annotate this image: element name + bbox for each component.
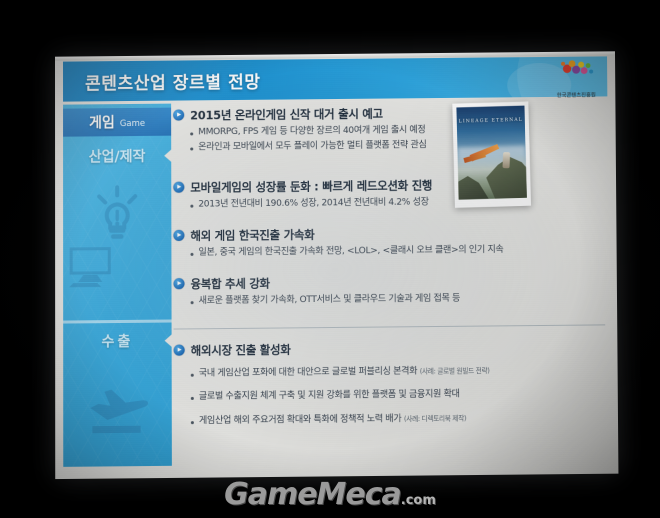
airplane-departure-icon: [63, 373, 172, 445]
lightbulb-idea-icon: [63, 182, 171, 247]
monitor-icon: [63, 240, 171, 293]
section-heading: 융복합 추세 강화: [191, 275, 270, 292]
arrow-bullet-icon: [173, 278, 184, 289]
bullet-text: 2013년 전년대비 190.6% 성장, 2014년 전년대비 4.2% 성장: [198, 197, 428, 211]
bullet-dot-icon: [191, 374, 194, 377]
arrow-bullet-icon: [174, 345, 185, 356]
sidebar-item-export-label: 수출: [101, 331, 133, 351]
arrow-bullet-icon: [173, 230, 184, 241]
sidebar-item-game[interactable]: 게임 Game: [63, 108, 171, 137]
section-block-1: 2015년 온라인게임 신작 대거 출시 예고 MMORPG, FPS 게임 등…: [173, 103, 604, 154]
bullet-row: 새로운 플랫폼 찾기 가속화, OTT서비스 및 클라우드 기술과 게임 접목 …: [191, 292, 605, 307]
bullet-dot-icon: [190, 253, 193, 256]
bullet-note: (사례: 디렉토리북 제작): [404, 414, 466, 423]
sidebar-item-industry-production[interactable]: 산업/제작: [63, 142, 171, 171]
game-poster-thumbnail: LINEAGE ETERNAL: [452, 101, 531, 207]
section-heading-row: 해외 게임 한국진출 가속화: [173, 224, 604, 244]
kocca-logo-text: 한국콘텐츠진흥원: [543, 91, 609, 99]
section-block-2: 모바일게임의 성장률 둔화 : 빠르게 레드오션화 진행 2013년 전년대비 …: [173, 176, 604, 212]
page-title: 콘텐츠산업 장르별 전망: [85, 68, 261, 95]
section-heading: 모바일게임의 성장률 둔화 : 빠르게 레드오션화 진행: [190, 177, 432, 195]
watermark: GameMeca.com: [0, 477, 660, 512]
section-block-export: 해외시장 진출 활성화 국내 게임산업 포화에 대한 대안으로 글로벌 퍼블리싱…: [174, 338, 606, 427]
bullet-row: 일본, 중국 게임의 한국진출 가속화 전망, <LOL>, <클래시 오브 클…: [190, 244, 604, 259]
bullet-text: 국내 게임산업 포화에 대한 대안으로 글로벌 퍼블리싱 본격화: [199, 366, 420, 378]
watermark-domain: .com: [401, 493, 436, 508]
sidebar-item-game-label: 게임: [89, 112, 115, 132]
section-heading-row: 2015년 온라인게임 신작 대거 출시 예고: [173, 103, 603, 123]
sidebar-item-export[interactable]: 수출: [63, 327, 171, 356]
projected-slide-photo: 콘텐츠산업 장르별 전망 한국콘텐츠진흥원 게임 Game: [0, 0, 660, 518]
section-heading-row: 모바일게임의 성장률 둔화 : 빠르게 레드오션화 진행: [173, 176, 604, 196]
section-heading: 해외 게임 한국진출 가속화: [190, 227, 314, 244]
bullet-dot-icon: [191, 301, 194, 304]
bullet-text: 새로운 플랫폼 찾기 가속화, OTT서비스 및 클라우드 기술과 게임 접목 …: [199, 294, 461, 308]
bullet-text: 글로벌 수출지원 체계 구축 및 지원 강화를 위한 플랫폼 및 금융지원 확대: [199, 390, 460, 404]
section-block-4: 융복합 추세 강화 새로운 플랫폼 찾기 가속화, OTT서비스 및 클라우드 …: [173, 272, 605, 308]
presentation-slide: 콘텐츠산업 장르별 전망 한국콘텐츠진흥원 게임 Game: [55, 51, 618, 479]
monitor-icon-svg: [69, 245, 113, 290]
bullet-dot-icon: [191, 397, 194, 400]
arrow-bullet-icon: [173, 182, 184, 193]
arrow-bullet-icon: [173, 109, 184, 120]
kocca-logo: 한국콘텐츠진흥원: [543, 53, 609, 100]
section-heading-row: 해외시장 진출 활성화: [174, 338, 606, 358]
bullet-text: 일본, 중국 게임의 한국진출 가속화 전망, <LOL>, <클래시 오브 클…: [198, 245, 503, 259]
bullet-text-wrap: 게임산업 해외 주요거점 확대와 특화에 정책적 노력 배가 (사례: 디렉토리…: [199, 413, 466, 427]
slide-content: 2015년 온라인게임 신작 대거 출시 예고 MMORPG, FPS 게임 등…: [173, 99, 610, 467]
bullet-dot-icon: [191, 421, 194, 424]
left-rail: 게임 Game 산업/제작: [63, 104, 172, 467]
sidebar-item-game-sublabel: Game: [120, 119, 145, 129]
bullet-row: 2013년 전년대비 190.6% 성장, 2014년 전년대비 4.2% 성장: [190, 196, 604, 211]
bullet-text: 게임산업 해외 주요거점 확대와 특화에 정책적 노력 배가: [199, 414, 404, 426]
watermark-text: GameMeca: [224, 477, 401, 512]
airplane-departure-icon-svg: [80, 377, 154, 440]
rail-pointer-icon-export: [165, 334, 173, 348]
section-block-3: 해외 게임 한국진출 가속화 일본, 중국 게임의 한국진출 가속화 전망, <…: [173, 224, 604, 260]
sidebar-item-industry-label: 산업/제작: [89, 146, 146, 167]
bullet-row: 온라인과 모바일에서 모두 플레이 가능한 멀티 플랫폼 전략 관심: [190, 139, 604, 154]
bullet-dot-icon: [190, 148, 193, 151]
bullet-row: 글로벌 수출지원 체계 구축 및 지원 강화를 위한 플랫폼 및 금융지원 확대: [191, 388, 606, 403]
section-heading: 해외시장 진출 활성화: [191, 342, 291, 359]
poster-figure: [502, 152, 510, 168]
kocca-logo-mark: [557, 54, 597, 80]
poster-title: LINEAGE ETERNAL: [457, 118, 525, 125]
rail-pointer-icon: [164, 149, 172, 163]
bullet-text: MMORPG, FPS 게임 등 다양한 장르의 40여개 게임 출시 예정: [198, 125, 425, 138]
section-heading: 2015년 온라인게임 신작 대거 출시 예고: [190, 106, 383, 124]
section-divider: [174, 324, 606, 329]
bullet-text: 온라인과 모바일에서 모두 플레이 가능한 멀티 플랫폼 전략 관심: [198, 140, 426, 153]
bullet-note: (사례: 글로벌 원빌드 전략): [420, 367, 490, 376]
bullet-row: 게임산업 해외 주요거점 확대와 특화에 정책적 노력 배가 (사례: 디렉토리…: [191, 412, 606, 427]
bullet-dot-icon: [190, 132, 193, 135]
bullet-row: MMORPG, FPS 게임 등 다양한 장르의 40여개 게임 출시 예정: [190, 123, 603, 138]
bullet-dot-icon: [190, 205, 193, 208]
bullet-text-wrap: 국내 게임산업 포화에 대한 대안으로 글로벌 퍼블리싱 본격화 (사례: 글로…: [199, 366, 490, 380]
section-heading-row: 융복합 추세 강화: [173, 272, 604, 292]
slide-header: 콘텐츠산업 장르별 전망: [63, 56, 607, 101]
bullet-row: 국내 게임산업 포화에 대한 대안으로 글로벌 퍼블리싱 본격화 (사례: 글로…: [191, 365, 606, 380]
poster-artwork: LINEAGE ETERNAL: [456, 106, 526, 200]
